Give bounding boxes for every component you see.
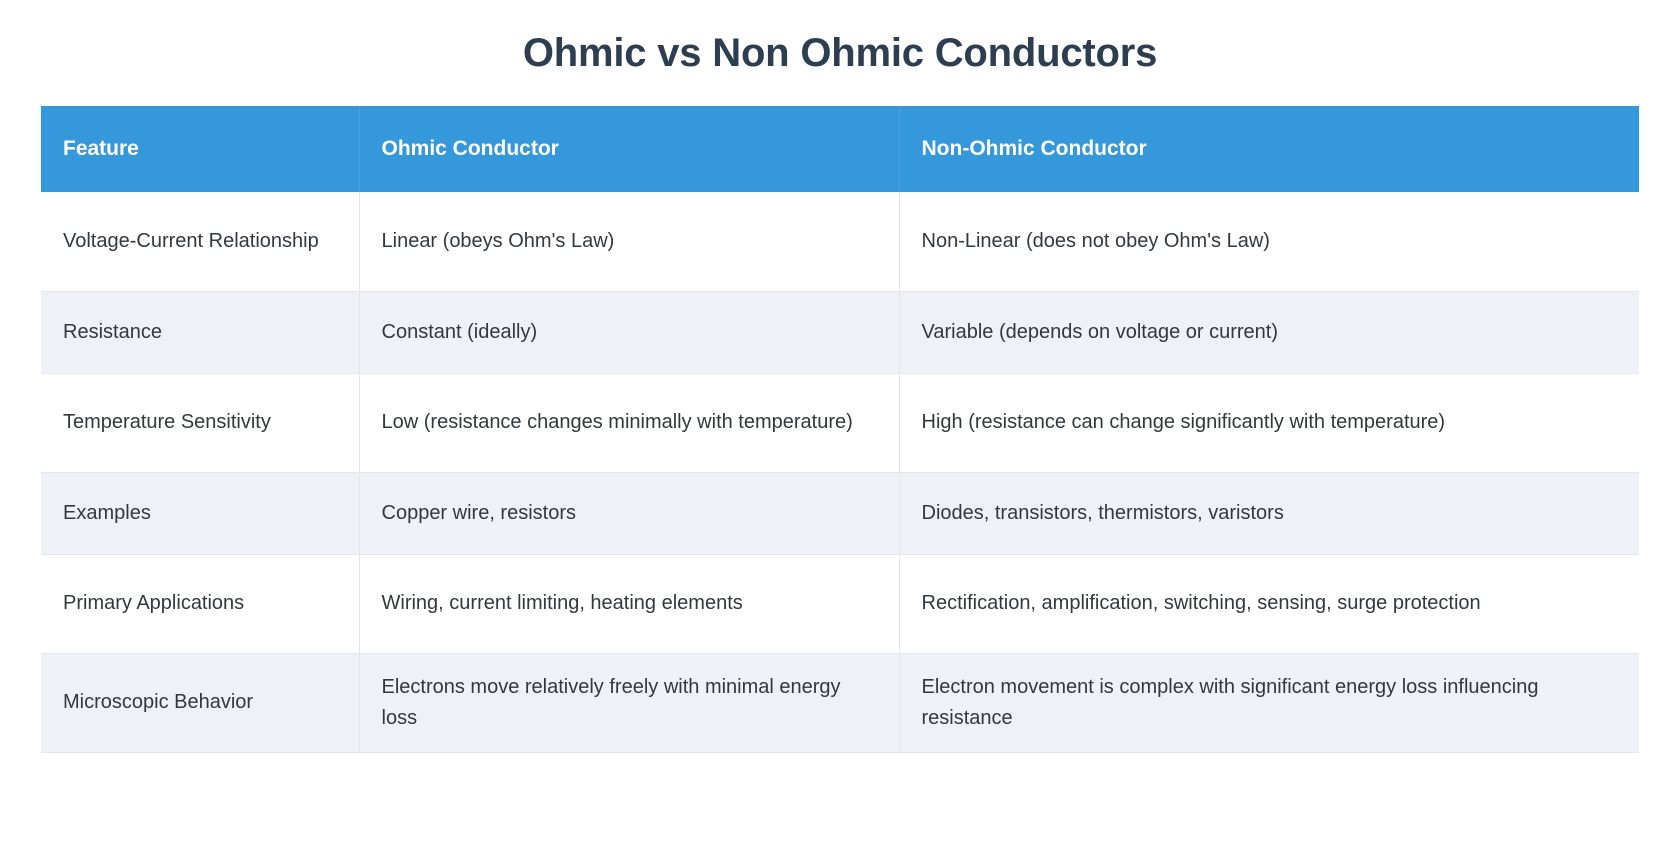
cell-feature: Microscopic Behavior bbox=[41, 653, 359, 752]
table-header-row: Feature Ohmic Conductor Non-Ohmic Conduc… bbox=[41, 106, 1639, 192]
cell-non-ohmic: Variable (depends on voltage or current) bbox=[899, 291, 1639, 373]
cell-ohmic: Low (resistance changes minimally with t… bbox=[359, 373, 899, 472]
cell-non-ohmic: Diodes, transistors, thermistors, varist… bbox=[899, 472, 1639, 554]
comparison-table-container: Feature Ohmic Conductor Non-Ohmic Conduc… bbox=[41, 106, 1639, 753]
cell-feature: Primary Applications bbox=[41, 554, 359, 653]
table-row: Microscopic Behavior Electrons move rela… bbox=[41, 653, 1639, 752]
cell-non-ohmic: Electron movement is complex with signif… bbox=[899, 653, 1639, 752]
page-root: Ohmic vs Non Ohmic Conductors Feature Oh… bbox=[0, 0, 1680, 850]
table-body: Voltage-Current Relationship Linear (obe… bbox=[41, 192, 1639, 752]
cell-ohmic: Copper wire, resistors bbox=[359, 472, 899, 554]
horizontal-scrollbar[interactable] bbox=[41, 753, 1639, 761]
cell-feature: Examples bbox=[41, 472, 359, 554]
cell-non-ohmic: Non-Linear (does not obey Ohm's Law) bbox=[899, 192, 1639, 291]
table-row: Resistance Constant (ideally) Variable (… bbox=[41, 291, 1639, 373]
cell-ohmic: Electrons move relatively freely with mi… bbox=[359, 653, 899, 752]
cell-non-ohmic: Rectification, amplification, switching,… bbox=[899, 554, 1639, 653]
cell-ohmic: Linear (obeys Ohm's Law) bbox=[359, 192, 899, 291]
cell-feature: Resistance bbox=[41, 291, 359, 373]
table-row: Examples Copper wire, resistors Diodes, … bbox=[41, 472, 1639, 554]
column-header-ohmic: Ohmic Conductor bbox=[359, 106, 899, 192]
cell-ohmic: Wiring, current limiting, heating elemen… bbox=[359, 554, 899, 653]
cell-feature: Voltage-Current Relationship bbox=[41, 192, 359, 291]
table-header: Feature Ohmic Conductor Non-Ohmic Conduc… bbox=[41, 106, 1639, 192]
table-row: Temperature Sensitivity Low (resistance … bbox=[41, 373, 1639, 472]
column-header-non-ohmic: Non-Ohmic Conductor bbox=[899, 106, 1639, 192]
page-title: Ohmic vs Non Ohmic Conductors bbox=[0, 0, 1680, 78]
table-row: Primary Applications Wiring, current lim… bbox=[41, 554, 1639, 653]
column-header-feature: Feature bbox=[41, 106, 359, 192]
cell-ohmic: Constant (ideally) bbox=[359, 291, 899, 373]
cell-feature: Temperature Sensitivity bbox=[41, 373, 359, 472]
comparison-table: Feature Ohmic Conductor Non-Ohmic Conduc… bbox=[41, 106, 1639, 753]
table-row: Voltage-Current Relationship Linear (obe… bbox=[41, 192, 1639, 291]
cell-non-ohmic: High (resistance can change significantl… bbox=[899, 373, 1639, 472]
